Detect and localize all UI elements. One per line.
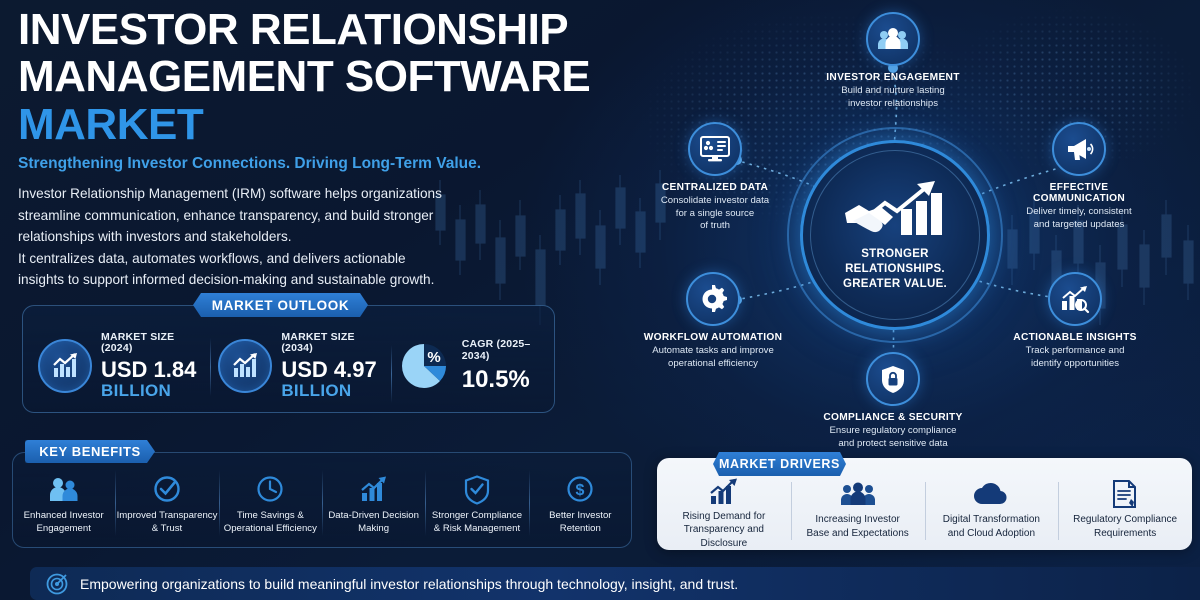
market-drivers-badge: MARKET DRIVERS xyxy=(713,452,846,476)
svg-text:%: % xyxy=(427,349,440,366)
check-circle-icon xyxy=(153,474,181,504)
svg-text:$: $ xyxy=(576,482,585,499)
benefit-label: Time Savings &Operational Efficiency xyxy=(224,510,317,535)
driver-item[interactable]: Increasing InvestorBase and Expectations xyxy=(791,478,925,550)
footer-text: Empowering organizations to build meanin… xyxy=(80,576,738,592)
key-benefits-list: Enhanced InvestorEngagement Improved Tra… xyxy=(12,466,632,548)
benefit-label: Improved Transparency& Trust xyxy=(117,510,218,535)
group-people-icon xyxy=(840,478,876,510)
node-title: WORKFLOW AUTOMATION xyxy=(638,332,788,343)
growth-chart-icon xyxy=(709,478,739,507)
footer-bar: Empowering organizations to build meanin… xyxy=(30,567,1200,600)
stat-label: MARKET SIZE (2034) xyxy=(281,332,382,355)
benefit-item[interactable]: Improved Transparency& Trust xyxy=(115,466,218,548)
node-title: INVESTOR ENGAGEMENT xyxy=(818,72,968,83)
stat-value: USD 4.97 xyxy=(281,358,382,382)
cloud-icon xyxy=(972,478,1010,510)
paragraph-line-2: streamline communication, enhance transp… xyxy=(18,205,658,227)
node-title: COMPLIANCE & SECURITY xyxy=(818,412,968,423)
dollar-circle-icon: $ xyxy=(566,474,594,504)
infographic-canvas: INVESTOR RELATIONSHIP MANAGEMENT SOFTWAR… xyxy=(0,0,1200,600)
node-desc: Deliver timely, consistentand targeted u… xyxy=(1004,206,1154,231)
stat-market-size-2024: MARKET SIZE (2024) USD 1.84 BILLION xyxy=(30,332,210,400)
megaphone-icon xyxy=(1052,122,1106,176)
hub-center: STRONGER RELATIONSHIPS.GREATER VALUE. xyxy=(800,140,990,330)
stat-label: MARKET SIZE (2024) xyxy=(101,332,202,355)
title-line-2: MANAGEMENT SOFTWARE xyxy=(18,53,658,100)
title-line-1: INVESTOR RELATIONSHIP xyxy=(18,6,658,53)
benefit-label: Data-Driven DecisionMaking xyxy=(328,510,419,535)
hub-node-actionable-insights[interactable]: ACTIONABLE INSIGHTS Track performance an… xyxy=(1000,272,1150,370)
driver-item[interactable]: Digital Transformationand Cloud Adoption xyxy=(925,478,1059,550)
benefit-item[interactable]: Time Savings &Operational Efficiency xyxy=(219,466,322,548)
paragraph-line-5: insights to support informed decision-ma… xyxy=(18,269,658,291)
driver-item[interactable]: Regulatory ComplianceRequirements xyxy=(1058,478,1192,550)
hub-node-workflow-automation[interactable]: WORKFLOW AUTOMATION Automate tasks and i… xyxy=(638,272,788,370)
benefit-label: Stronger Compliance& Risk Management xyxy=(432,510,522,535)
driver-label: Increasing InvestorBase and Expectations xyxy=(806,513,908,540)
stat-market-size-2034: MARKET SIZE (2034) USD 4.97 BILLION xyxy=(210,332,390,400)
stat-cagr: % CAGR (2025–2034) 10.5% xyxy=(391,339,547,393)
intro-paragraph: Investor Relationship Management (IRM) s… xyxy=(18,183,658,291)
benefit-item[interactable]: Enhanced InvestorEngagement xyxy=(12,466,115,548)
node-desc: Automate tasks and improveoperational ef… xyxy=(638,345,788,370)
shield-lock-icon xyxy=(866,352,920,406)
benefit-label: Better InvestorRetention xyxy=(549,510,611,535)
paragraph-line-4: It centralizes data, automates workflows… xyxy=(18,248,658,270)
clock-icon xyxy=(256,474,284,504)
driver-label: Regulatory ComplianceRequirements xyxy=(1073,513,1177,540)
driver-label: Digital Transformationand Cloud Adoption xyxy=(943,513,1040,540)
paragraph-line-3: relationships with investors and stakeho… xyxy=(18,226,658,248)
driver-label: Rising Demand forTransparency andDisclos… xyxy=(682,510,765,551)
hub-node-compliance-security[interactable]: COMPLIANCE & SECURITY Ensure regulatory … xyxy=(818,352,968,450)
bar-chart-arrow-icon xyxy=(360,474,388,504)
people-group-icon xyxy=(866,12,920,66)
monitor-data-icon xyxy=(688,122,742,176)
shield-check-icon xyxy=(464,474,490,504)
target-icon xyxy=(46,573,68,595)
market-drivers-list: Rising Demand forTransparency andDisclos… xyxy=(657,474,1192,550)
hub-caption: STRONGER RELATIONSHIPS.GREATER VALUE. xyxy=(811,247,979,292)
stat-value: 10.5% xyxy=(462,367,539,393)
driver-item[interactable]: Rising Demand forTransparency andDisclos… xyxy=(657,478,791,550)
node-title: CENTRALIZED DATA xyxy=(640,182,790,193)
bar-chart-growth-icon xyxy=(38,339,92,393)
benefit-item[interactable]: Stronger Compliance& Risk Management xyxy=(425,466,528,548)
benefit-item[interactable]: $ Better InvestorRetention xyxy=(529,466,632,548)
subtitle: Strengthening Investor Connections. Driv… xyxy=(18,155,658,173)
hub-node-investor-engagement[interactable]: INVESTOR ENGAGEMENT Build and nurture la… xyxy=(818,12,968,110)
insights-search-icon xyxy=(1048,272,1102,326)
node-desc: Consolidate investor datafor a single so… xyxy=(640,195,790,233)
headline-block: INVESTOR RELATIONSHIP MANAGEMENT SOFTWAR… xyxy=(18,6,658,291)
hub-node-effective-communication[interactable]: EFFECTIVE COMMUNICATION Deliver timely, … xyxy=(1004,122,1154,231)
gear-icon xyxy=(686,272,740,326)
benefit-label: Enhanced InvestorEngagement xyxy=(24,510,104,535)
hub-node-centralized-data[interactable]: CENTRALIZED DATA Consolidate investor da… xyxy=(640,122,790,233)
market-outlook-stats: MARKET SIZE (2024) USD 1.84 BILLION MARK… xyxy=(22,305,555,413)
node-desc: Build and nurture lastinginvestor relati… xyxy=(818,85,968,110)
users-icon xyxy=(49,474,79,504)
stat-value: USD 1.84 xyxy=(101,358,202,382)
node-title: EFFECTIVE COMMUNICATION xyxy=(1004,182,1154,204)
document-check-icon xyxy=(1111,478,1139,510)
stat-unit: BILLION xyxy=(101,382,202,400)
handshake-growth-icon xyxy=(839,179,951,243)
node-desc: Track performance andidentify opportunit… xyxy=(1000,345,1150,370)
benefit-item[interactable]: Data-Driven DecisionMaking xyxy=(322,466,425,548)
node-title: ACTIONABLE INSIGHTS xyxy=(1000,332,1150,343)
stat-label: CAGR (2025–2034) xyxy=(462,339,539,362)
pie-percent-icon: % xyxy=(395,339,453,393)
hub-inner: STRONGER RELATIONSHIPS.GREATER VALUE. xyxy=(810,150,980,320)
bar-chart-growth-icon xyxy=(218,339,272,393)
key-benefits-badge: KEY BENEFITS xyxy=(25,440,155,463)
stat-unit: BILLION xyxy=(281,382,382,400)
node-desc: Ensure regulatory complianceand protect … xyxy=(818,425,968,450)
paragraph-line-1: Investor Relationship Management (IRM) s… xyxy=(18,183,658,205)
title-line-3: MARKET xyxy=(18,100,658,149)
